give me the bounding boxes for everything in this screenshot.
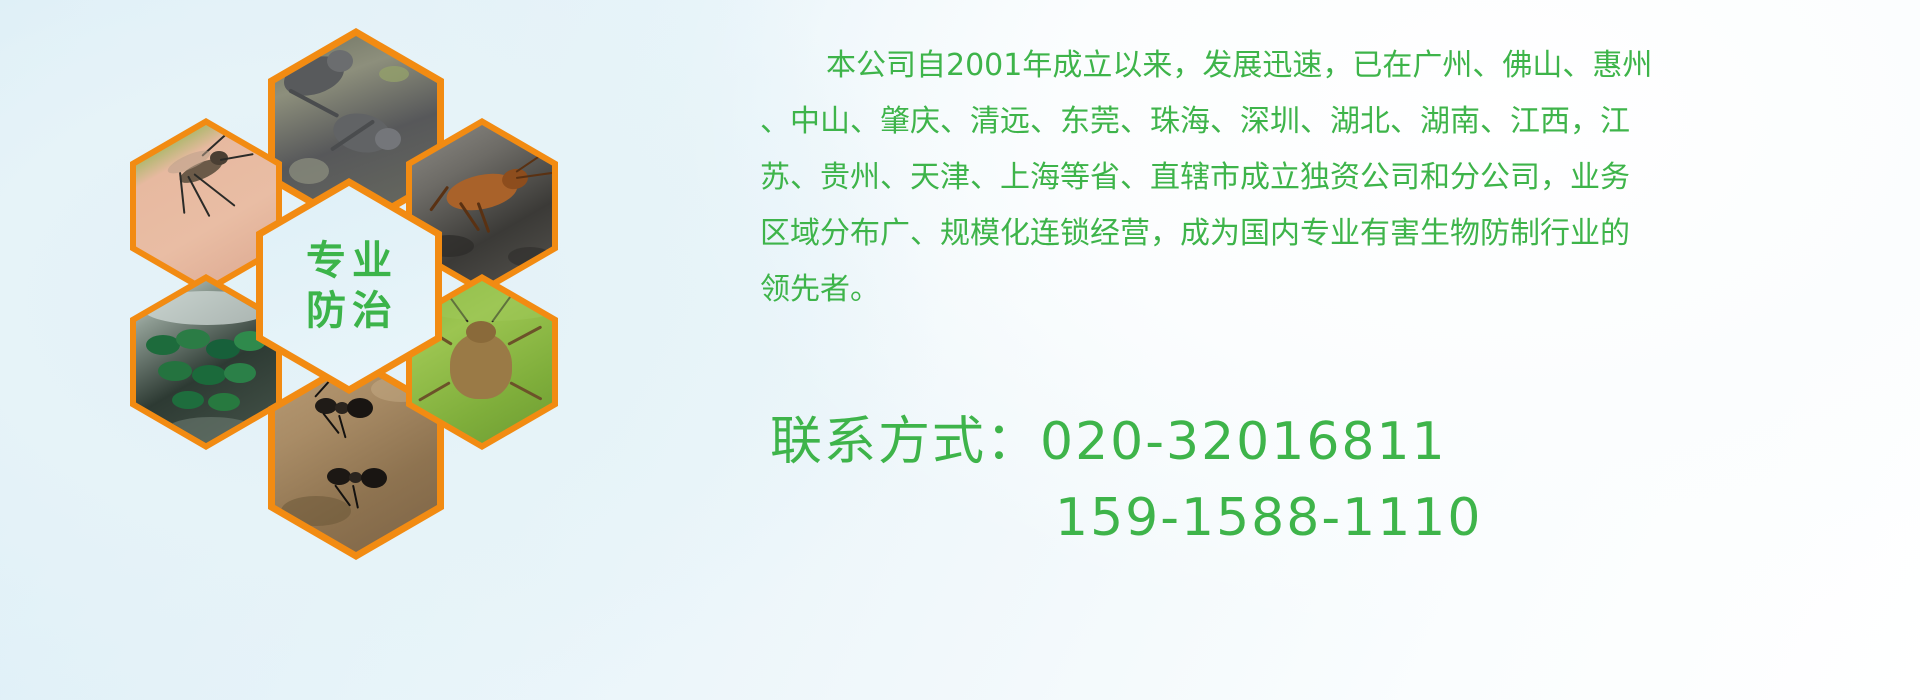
flies-cluster-image [136,281,276,443]
intro-line-5: 领先者。 [760,262,1880,318]
contact-line-landline[interactable]: 联系方式：020-32016811 [770,404,1910,480]
contact-block: 联系方式：020-32016811 159-1588-1110 [770,404,1910,556]
intro-line-4: 区域分布广、规模化连锁经营，成为国内专业有害生物防制行业的 [760,206,1880,262]
hex-word-line-2: 防治 [300,290,398,332]
hexagon-photo-cluster: 专业 防治 [90,10,590,570]
hex-word-line-1: 专业 [300,240,398,282]
mosquito-on-skin-image [136,125,276,287]
company-intro-paragraph: 本公司自2001年成立以来，发展迅速，已在广州、佛山、惠州 、中山、肇庆、清远、… [760,38,1880,318]
intro-line-3: 苏、贵州、天津、上海等省、直辖市成立独资公司和分公司，业务 [760,150,1880,206]
promo-banner: 专业 防治 本公司自2001年成立以来，发展迅速，已在广州、佛山、惠州 、中山、… [0,0,1920,700]
contact-line-mobile[interactable]: 159-1588-1110 [770,480,1910,556]
intro-line-2: 、中山、肇庆、清远、东莞、珠海、深圳、湖北、湖南、江西，江 [760,94,1880,150]
intro-line-1: 本公司自2001年成立以来，发展迅速，已在广州、佛山、惠州 [760,38,1880,94]
